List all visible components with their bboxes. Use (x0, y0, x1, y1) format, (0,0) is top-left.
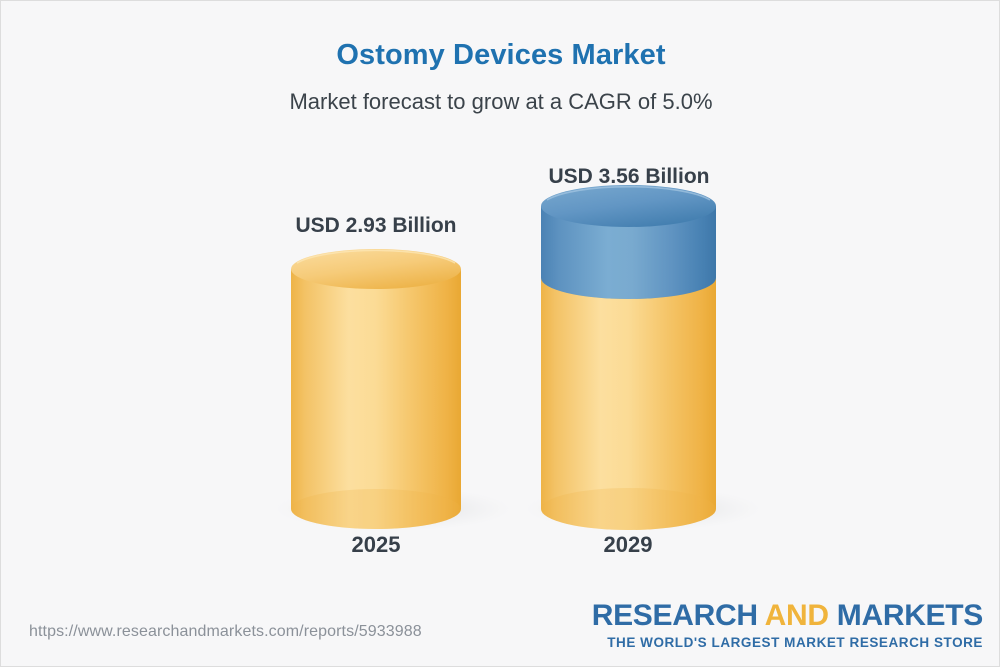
logo-word-markets: MARKETS (829, 599, 983, 632)
value-label-2025: USD 2.93 Billion (236, 214, 516, 238)
research-and-markets-logo[interactable]: RESEARCH AND MARKETS THE WORLD'S LARGEST… (592, 601, 983, 650)
logo-word-and: AND (765, 599, 829, 632)
bar-2025 (291, 249, 461, 529)
cylinder-bars-svg (1, 1, 1000, 601)
category-label-2029: 2029 (528, 532, 728, 558)
logo-tagline: THE WORLD'S LARGEST MARKET RESEARCH STOR… (592, 636, 983, 650)
report-url[interactable]: https://www.researchandmarkets.com/repor… (29, 623, 422, 641)
logo-wordmark: RESEARCH AND MARKETS (592, 601, 983, 631)
category-label-2025: 2025 (276, 532, 476, 558)
chart-plot-area: USD 2.93 Billion USD 3.56 Billion 2025 2… (1, 1, 1000, 601)
bar-2025-top (291, 249, 461, 289)
value-label-2029: USD 3.56 Billion (489, 165, 769, 189)
logo-word-research: RESEARCH (592, 599, 765, 632)
bar-2029 (541, 185, 716, 530)
chart-canvas: Ostomy Devices Market Market forecast to… (0, 0, 1000, 667)
bar-2029-top (541, 185, 716, 227)
